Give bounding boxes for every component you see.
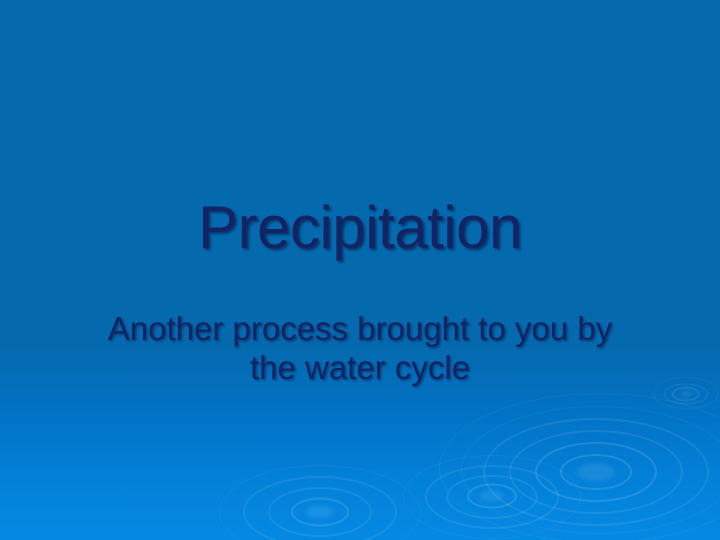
ripple-left-ring-4 <box>219 465 421 540</box>
subtitle-placeholder: Another process brought to you by the wa… <box>60 310 660 388</box>
slide-subtitle: Another process brought to you by the wa… <box>60 310 660 388</box>
title-placeholder: Precipitation <box>0 196 720 259</box>
ripple-left-ring-1 <box>291 498 349 527</box>
ripple-small-top-right-inner <box>664 384 708 405</box>
ripple-medium-ring-1 <box>467 484 517 509</box>
subtitle-line-1: Another process brought to you by <box>60 310 660 349</box>
ripple-large-core <box>577 463 615 481</box>
ripple-small-top-right-core <box>680 391 692 397</box>
ripple-medium-ring-3 <box>425 465 559 529</box>
ripple-medium-ring-4 <box>403 455 581 539</box>
subtitle-line-2: the water cycle <box>60 349 660 388</box>
ripple-large-ring-3 <box>509 430 683 514</box>
ripple-large-ring-4 <box>483 418 709 526</box>
ripple-large-ring-2 <box>535 442 657 502</box>
ripple-large-ring-1 <box>560 454 632 490</box>
ripple-left-core <box>306 506 334 519</box>
page-title: Precipitation <box>0 196 720 259</box>
ripple-large-ring-6 <box>439 393 720 540</box>
water-ripples-decoration <box>0 0 720 540</box>
ripple-large-ring-5 <box>461 406 720 534</box>
ripple-left-ring-3 <box>243 476 397 540</box>
presentation-slide: Precipitation Another process brought to… <box>0 0 720 540</box>
ripple-medium-ring-2 <box>446 475 538 519</box>
ripple-medium-core <box>480 491 504 502</box>
ripple-small-top-right <box>653 377 719 409</box>
ripple-left-ring-2 <box>268 487 372 537</box>
ripple-small-top-right-core-ring <box>672 387 700 402</box>
